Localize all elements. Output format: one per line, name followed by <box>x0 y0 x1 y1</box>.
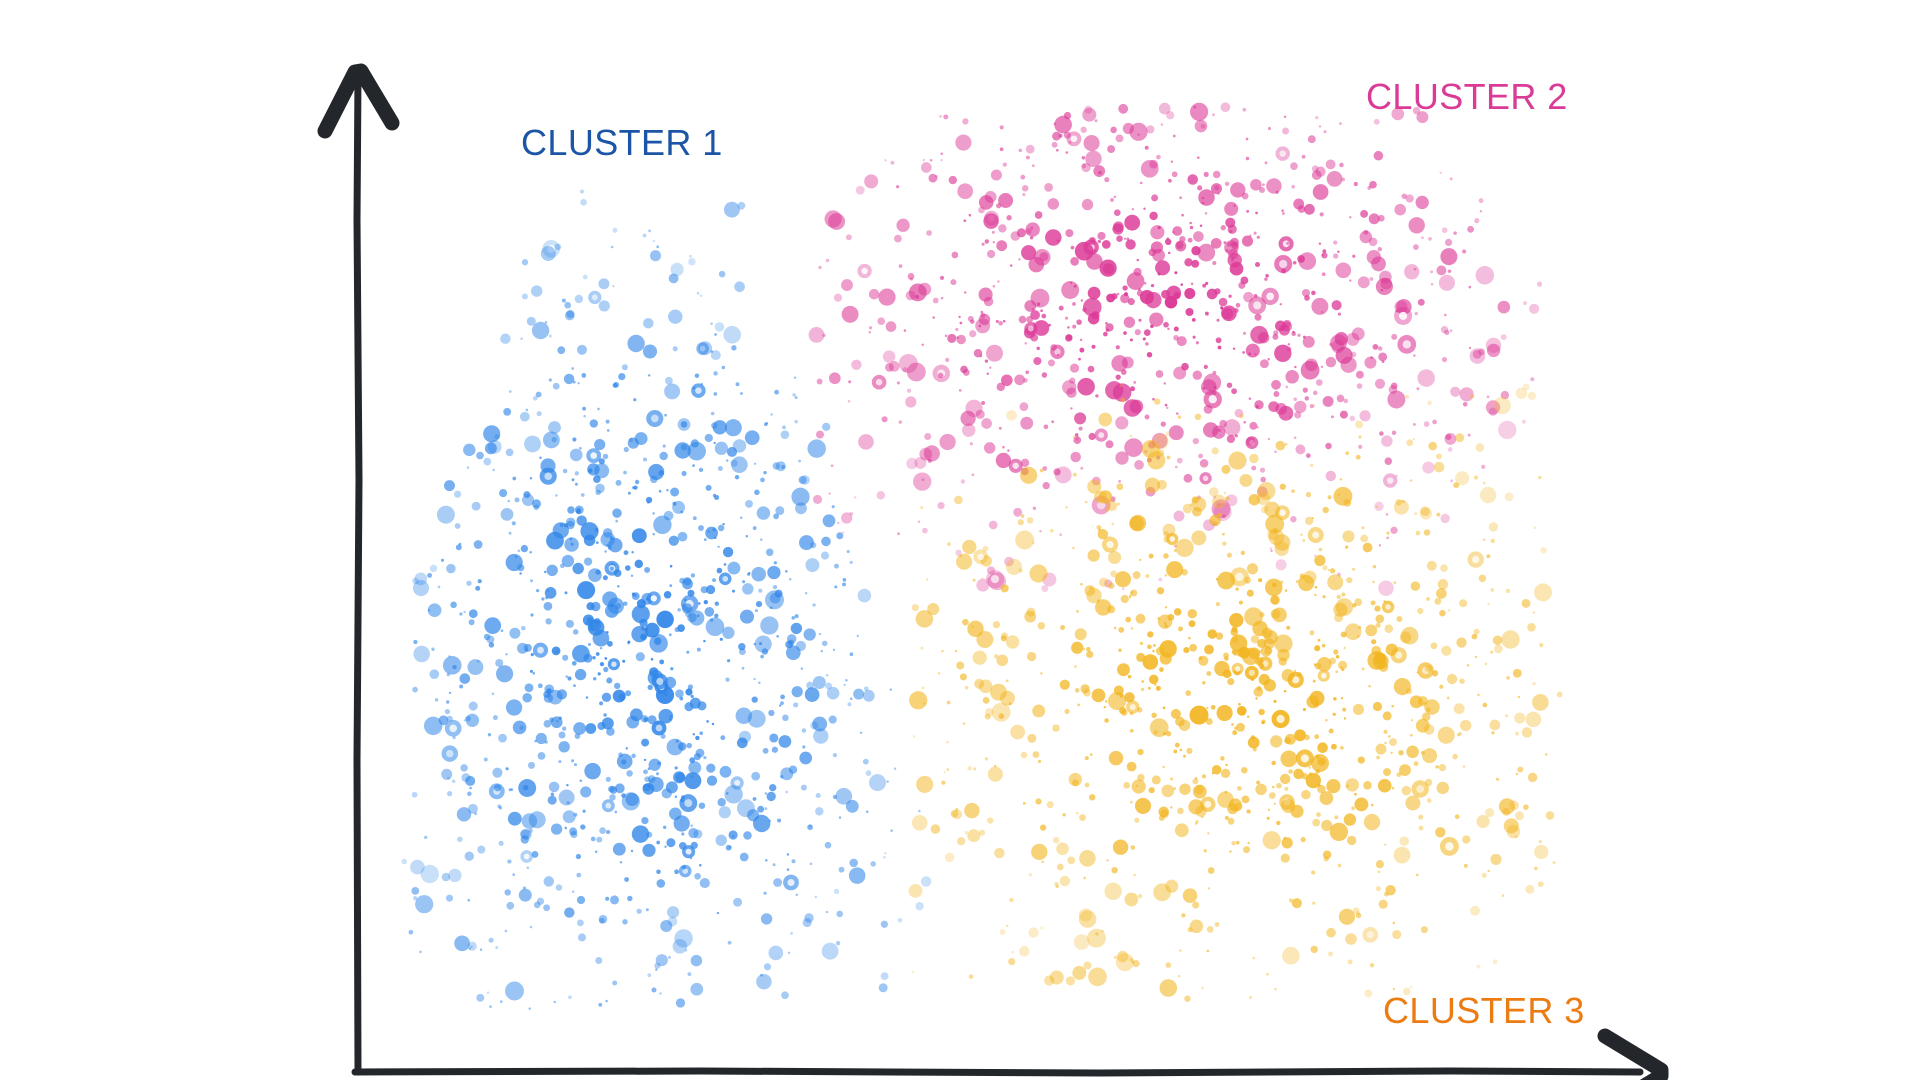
scatter-plot-chart: CLUSTER 1 CLUSTER 2 CLUSTER 3 <box>0 0 1920 1080</box>
cluster-points-3 <box>909 383 1563 1001</box>
cluster-1-label: CLUSTER 1 <box>521 122 723 164</box>
cluster-3-label: CLUSTER 3 <box>1383 990 1585 1032</box>
data-points-layer <box>401 102 1562 1009</box>
plot-canvas <box>0 0 1920 1080</box>
x-axis-line <box>355 1071 1640 1073</box>
cluster-2-label: CLUSTER 2 <box>1366 76 1568 118</box>
cluster-points-2 <box>809 102 1542 596</box>
y-axis-line <box>357 76 359 1072</box>
